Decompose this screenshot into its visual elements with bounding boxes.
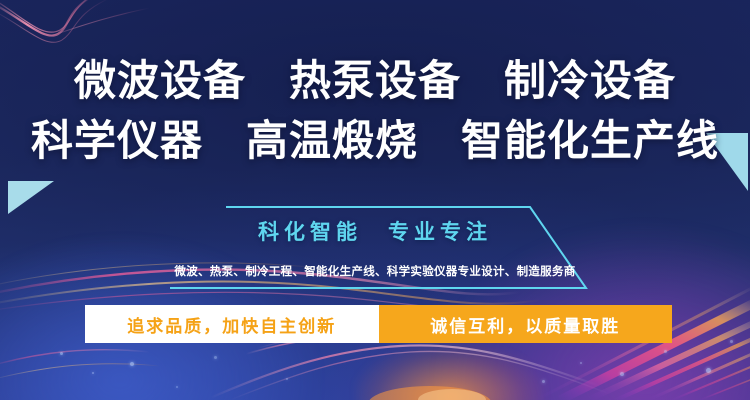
headline-line-2: 科学仪器 高温煅烧 智能化生产线	[0, 120, 750, 162]
slogan-bar: 追求品质，加快自主创新 诚信互利，以质量取胜	[85, 305, 672, 343]
speckle	[542, 380, 545, 383]
sub-title: 科化智能 专业专注	[0, 216, 750, 246]
triangle-right-icon	[8, 181, 54, 214]
speckle	[214, 356, 217, 359]
glow-orange-bottom-center	[355, 342, 545, 400]
speckle	[706, 368, 711, 373]
headline-line-1: 微波设备 热泵设备 制冷设备	[0, 60, 750, 102]
sub-description: 微波、热泵、制冷工程、智能化生产线、科学实验仪器专业设计、制造服务商	[0, 263, 750, 279]
speckle	[620, 372, 624, 376]
speckle	[580, 362, 582, 364]
slogan-left[interactable]: 追求品质，加快自主创新	[85, 305, 379, 343]
speckle	[176, 386, 178, 388]
slogan-right[interactable]: 诚信互利，以质量取胜	[379, 305, 673, 343]
speckle	[286, 378, 288, 380]
speckle	[92, 372, 94, 374]
speckle	[664, 350, 667, 353]
headline: 微波设备 热泵设备 制冷设备 科学仪器 高温煅烧 智能化生产线	[0, 60, 750, 162]
speckle	[130, 362, 134, 366]
speckle	[730, 340, 733, 343]
promo-banner: 微波设备 热泵设备 制冷设备 科学仪器 高温煅烧 智能化生产线 科化智能 专业专…	[0, 0, 750, 400]
speckle	[60, 352, 63, 355]
